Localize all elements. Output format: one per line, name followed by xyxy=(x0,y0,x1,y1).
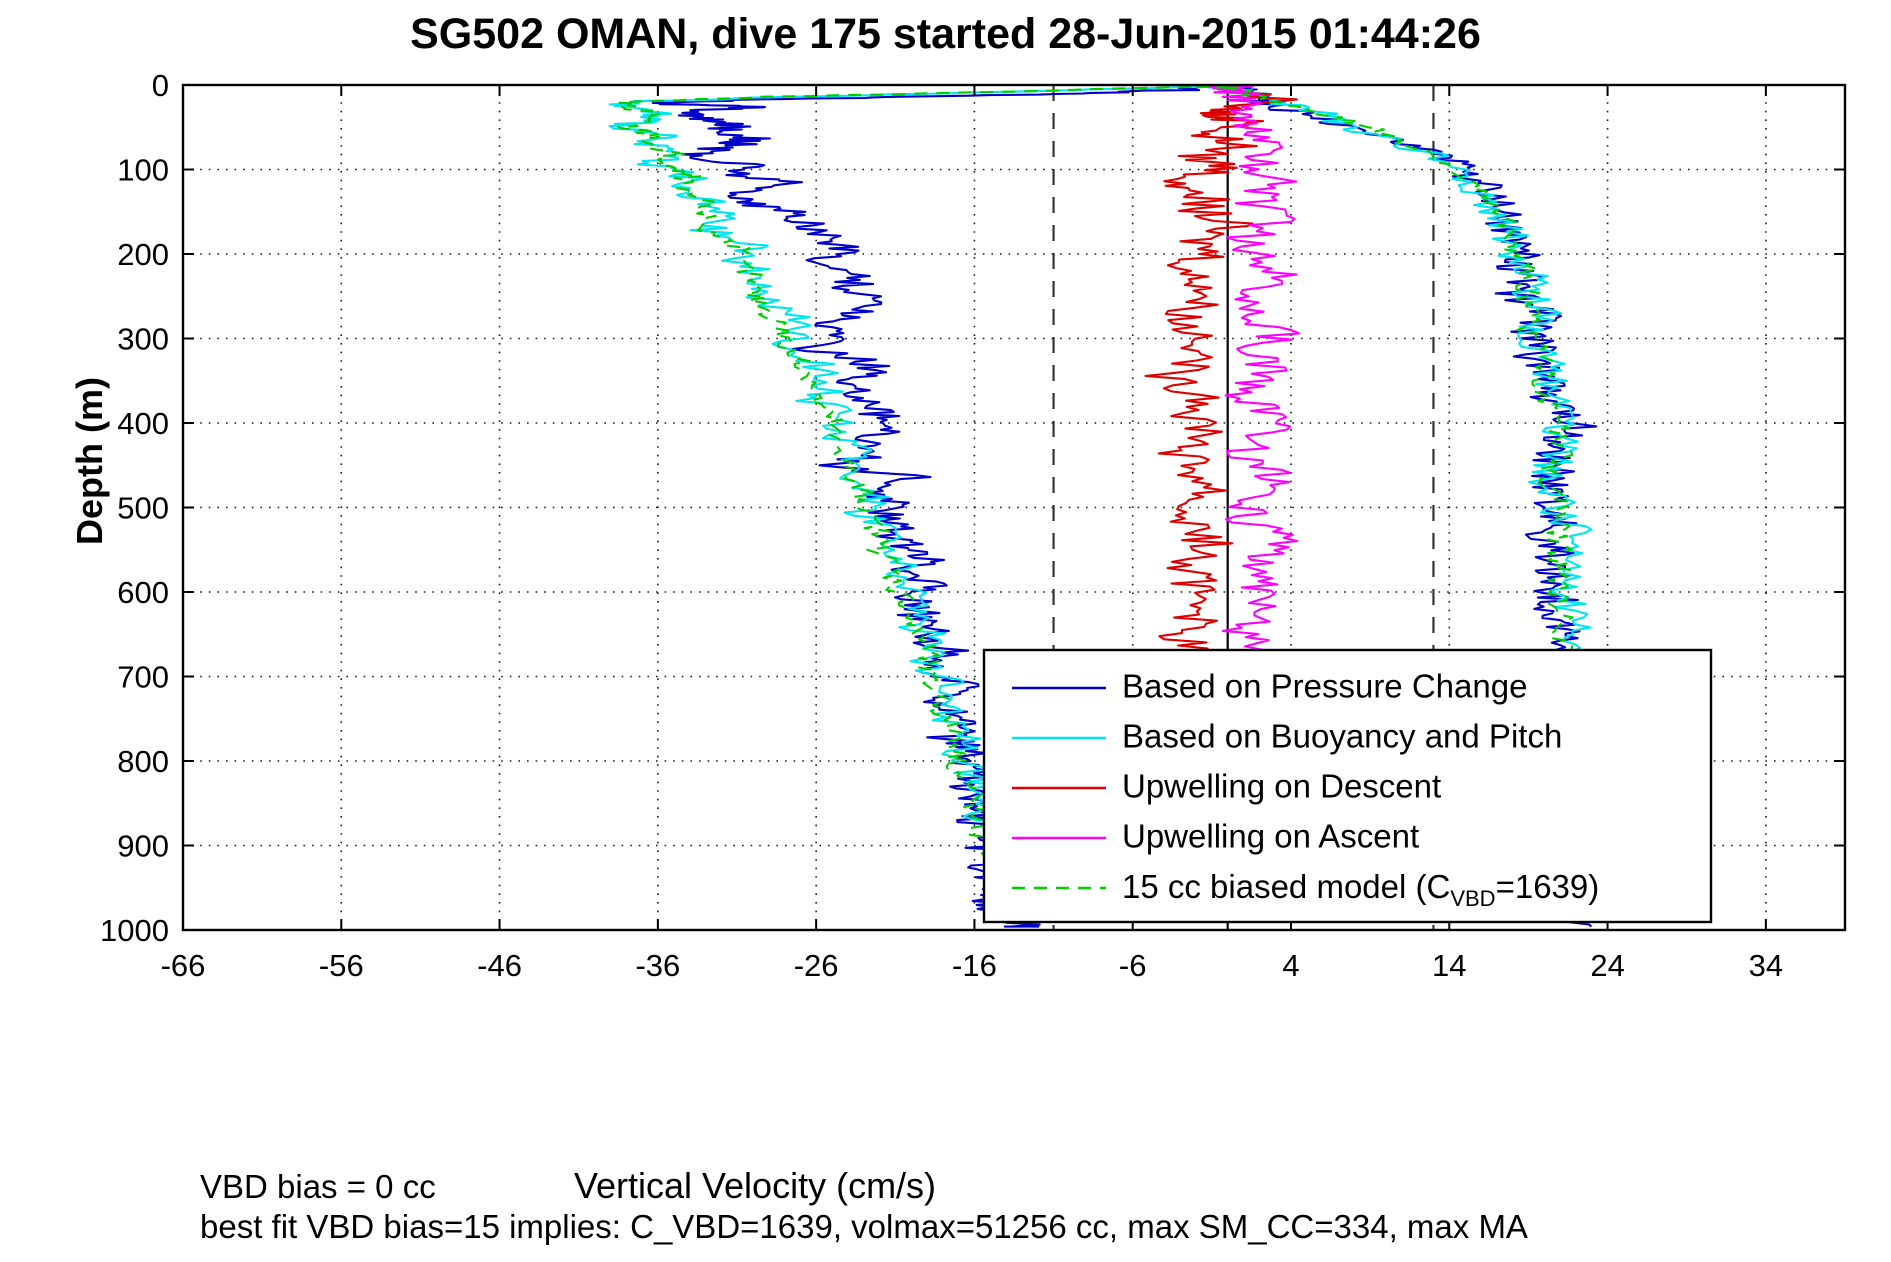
y-tick-label: 500 xyxy=(117,491,169,526)
y-tick-label: 900 xyxy=(117,829,169,864)
x-tick-label: 14 xyxy=(1432,948,1466,983)
x-tick-label: -26 xyxy=(794,948,839,983)
vbd-bias-note: VBD bias = 0 cc xyxy=(200,1168,436,1206)
page-title: SG502 OMAN, dive 175 started 28-Jun-2015… xyxy=(0,10,1891,59)
series-path xyxy=(1146,87,1297,685)
y-tick-label: 800 xyxy=(117,744,169,779)
x-tick-label: -16 xyxy=(952,948,997,983)
x-tick-label: 24 xyxy=(1590,948,1624,983)
x-tick-label: -36 xyxy=(635,948,680,983)
x-tick-label: -46 xyxy=(477,948,522,983)
x-tick-label: 34 xyxy=(1749,948,1783,983)
y-tick-label: 300 xyxy=(117,322,169,357)
y-tick-label: 600 xyxy=(117,575,169,610)
legend-item-label: Based on Buoyancy and Pitch xyxy=(1122,718,1562,755)
vertical-velocity-profile-chart: -66-56-46-36-26-16-641424340100200300400… xyxy=(0,60,1891,1210)
y-tick-label: 100 xyxy=(117,153,169,188)
y-tick-label: 0 xyxy=(152,68,169,103)
y-tick-label: 200 xyxy=(117,237,169,272)
x-tick-label: -56 xyxy=(319,948,364,983)
plot-page: SG502 OMAN, dive 175 started 28-Jun-2015… xyxy=(0,0,1891,1262)
y-tick-label: 1000 xyxy=(100,913,169,948)
legend-item-label: Upwelling on Descent xyxy=(1122,768,1441,805)
x-tick-label: -66 xyxy=(161,948,206,983)
legend-item-label: Upwelling on Ascent xyxy=(1122,818,1419,855)
y-tick-label: 700 xyxy=(117,660,169,695)
y-tick-label: 400 xyxy=(117,406,169,441)
series-path xyxy=(1207,87,1300,685)
series-line xyxy=(1146,87,1297,685)
x-tick-label: -6 xyxy=(1119,948,1147,983)
x-tick-label: 4 xyxy=(1282,948,1299,983)
chart-legend[interactable]: Based on Pressure ChangeBased on Buoyanc… xyxy=(984,650,1711,922)
best-fit-note: best fit VBD bias=15 implies: C_VBD=1639… xyxy=(200,1208,1528,1246)
legend-item-label: 15 cc biased model (CVBD=1639) xyxy=(1122,868,1599,911)
series-line xyxy=(1207,87,1300,685)
legend-item-label: Based on Pressure Change xyxy=(1122,668,1527,705)
